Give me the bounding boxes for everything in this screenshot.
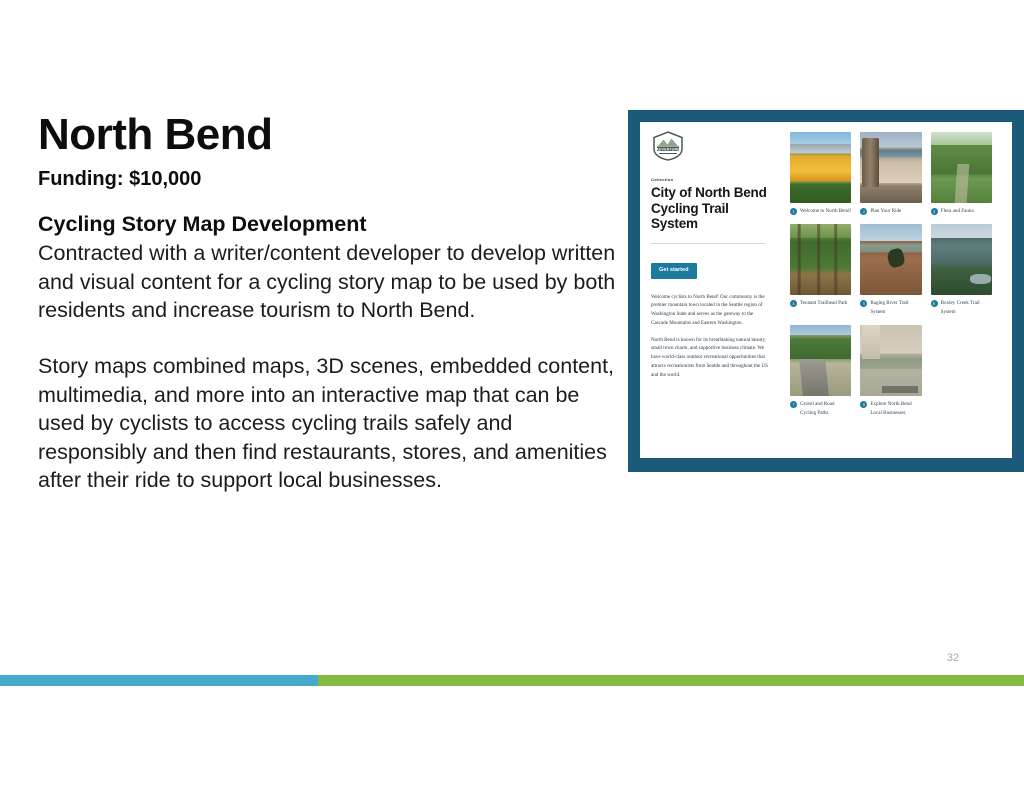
story-map-card[interactable]: 8Explore North Bend Local Businesses	[860, 325, 930, 417]
page-number: 32	[938, 652, 968, 664]
card-label-row: 3Flora and Fauna	[931, 207, 992, 215]
card-thumbnail-image	[931, 132, 992, 203]
story-map-app-window: ADVENTURE Collection City of North Bend …	[640, 122, 1012, 458]
collection-eyebrow-label: Collection	[651, 177, 770, 182]
card-thumbnail-image	[790, 132, 851, 203]
card-number-badge: 3	[931, 208, 938, 215]
card-thumbnail-image	[860, 325, 921, 396]
card-label: Plan Your Ride	[870, 207, 901, 215]
slide-text-column: North Bend Funding: $10,000 Cycling Stor…	[38, 112, 616, 495]
card-thumbnail-image	[790, 224, 851, 295]
card-number-badge: 1	[790, 208, 797, 215]
svg-text:ADVENTURE: ADVENTURE	[656, 147, 680, 151]
title-divider	[651, 243, 766, 244]
card-label: Tennant Trailhead Park	[800, 299, 847, 307]
story-map-screenshot: ADVENTURE Collection City of North Bend …	[628, 110, 1024, 472]
story-map-title: City of North Bend Cycling Trail System	[651, 185, 770, 232]
adventure-badge-logo: ADVENTURE	[651, 131, 685, 161]
get-started-button[interactable]: Get started	[651, 263, 697, 279]
story-map-intro-pane: ADVENTURE Collection City of North Bend …	[640, 122, 782, 458]
project-description-paragraph-2: Story maps combined maps, 3D scenes, emb…	[38, 352, 616, 495]
story-map-card[interactable]: 7Gravel and Road Cycling Paths	[790, 325, 860, 417]
story-map-card[interactable]: 4Tennant Trailhead Park	[790, 224, 860, 316]
card-label-row: 8Explore North Bend Local Businesses	[860, 400, 921, 417]
project-subheading: Cycling Story Map Development	[38, 211, 616, 239]
card-thumbnail-image	[931, 224, 992, 295]
story-map-card[interactable]: 2Plan Your Ride	[860, 132, 930, 215]
card-label: Welcome to North Bend!	[800, 207, 851, 215]
card-label-row: 7Gravel and Road Cycling Paths	[790, 400, 851, 417]
card-label: Raging River Trail System	[870, 299, 921, 316]
card-number-badge: 8	[860, 401, 867, 408]
card-label: Flora and Fauna	[941, 207, 974, 215]
footer-accent-bar	[0, 675, 1024, 686]
story-map-card[interactable]: 5Raging River Trail System	[860, 224, 930, 316]
card-number-badge: 6	[931, 300, 938, 307]
card-label: Gravel and Road Cycling Paths	[800, 400, 851, 417]
card-thumbnail-image	[790, 325, 851, 396]
slide: North Bend Funding: $10,000 Cycling Stor…	[0, 0, 1024, 791]
card-number-badge: 2	[860, 208, 867, 215]
story-map-card[interactable]: 6Boxley Creek Trail System	[931, 224, 1001, 316]
project-description-paragraph-1: Contracted with a writer/content develop…	[38, 239, 616, 325]
card-number-badge: 4	[790, 300, 797, 307]
story-map-card[interactable]: 3Flora and Fauna	[931, 132, 1001, 215]
card-number-badge: 5	[860, 300, 867, 307]
funding-amount: Funding: $10,000	[38, 168, 616, 191]
story-map-card[interactable]: 1Welcome to North Bend!	[790, 132, 860, 215]
footer-bar-blue-segment	[0, 675, 318, 686]
card-label-row: 6Boxley Creek Trail System	[931, 299, 992, 316]
card-label: Explore North Bend Local Businesses	[870, 400, 921, 417]
intro-paragraph-1: Welcome cyclists to North Bend! Our comm…	[651, 293, 770, 328]
card-label-row: 4Tennant Trailhead Park	[790, 299, 851, 307]
card-thumbnail-image	[860, 132, 921, 203]
card-thumbnail-image	[860, 224, 921, 295]
paragraph-spacer	[38, 325, 616, 352]
intro-paragraph-2: North Bend is known for its breathtaking…	[651, 336, 770, 380]
card-label-row: 5Raging River Trail System	[860, 299, 921, 316]
card-label: Boxley Creek Trail System	[941, 299, 992, 316]
story-map-card-grid: 1Welcome to North Bend!2Plan Your Ride3F…	[782, 122, 1012, 458]
footer-bar-green-segment	[318, 675, 1024, 686]
card-label-row: 1Welcome to North Bend!	[790, 207, 851, 215]
page-title: North Bend	[38, 112, 616, 158]
card-number-badge: 7	[790, 401, 797, 408]
card-label-row: 2Plan Your Ride	[860, 207, 921, 215]
